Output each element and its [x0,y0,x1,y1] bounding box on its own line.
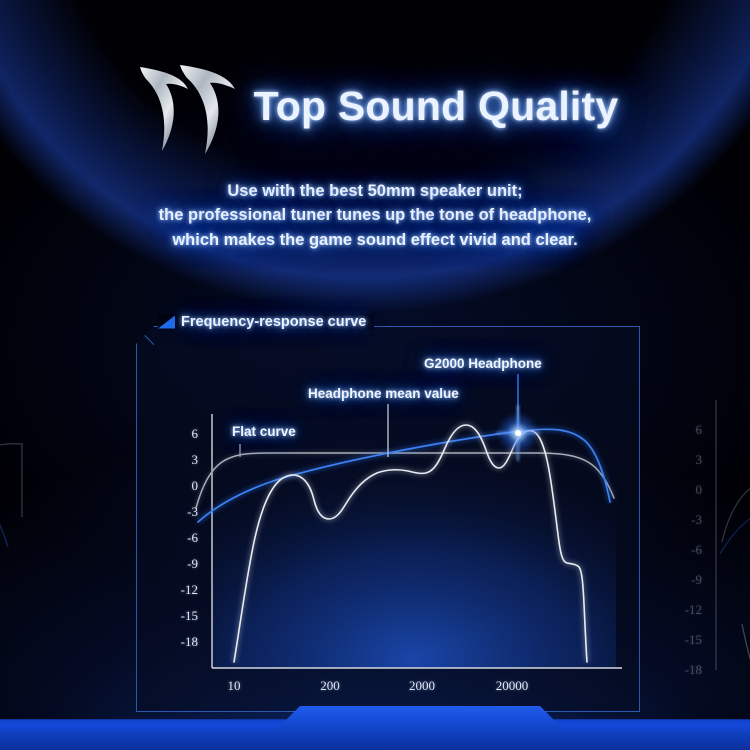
y-tick: -3 [160,504,198,520]
x-tick: 20000 [481,678,543,694]
header: Top Sound Quality Use with the best 50mm… [0,55,750,252]
ghost-left-curves [0,332,92,692]
y-tick: -15 [160,608,198,624]
subtitle-line: the professional tuner tunes up the tone… [0,203,750,227]
ghost-tick: -6 [670,542,702,558]
x-tick: 10 [214,678,254,694]
y-tick: -18 [160,634,198,650]
ghost-tick: -9 [670,572,702,588]
ghost-slide-right: 6 3 0 -3 -6 -9 -12 -15 -18 [656,392,750,692]
y-tick: 0 [160,478,198,494]
ghost-tick: 0 [674,482,702,498]
callout-headphone-mean-value: Headphone mean value [308,386,459,401]
title-row: Top Sound Quality [0,55,750,157]
frequency-response-panel: Frequency-response curve [136,326,640,712]
x-tick: 2000 [395,678,449,694]
chart-canvas: Flat curve Headphone mean value G2000 He… [136,326,640,712]
y-tick: -6 [160,530,198,546]
frequency-response-chart [136,326,640,712]
y-tick: 6 [160,426,198,442]
promo-slide: 2000 6 3 0 -3 -6 -9 -12 -15 -18 [0,0,750,750]
subtitle-line: which makes the game sound effect vivid … [0,228,750,252]
y-tick: -9 [160,556,198,572]
double-crescent-logo-icon [132,61,244,157]
ghost-tick: 3 [674,452,702,468]
ghost-tick: -18 [666,662,702,678]
callout-g2000-headphone: G2000 Headphone [424,356,542,371]
ghost-tick: -15 [666,632,702,648]
subtitle-line: Use with the best 50mm speaker unit; [0,179,750,203]
callout-flat-curve: Flat curve [232,424,296,439]
ghost-tick: -12 [666,602,702,618]
y-tick: 3 [160,452,198,468]
ghost-tick: 6 [674,422,702,438]
ghost-slide-left: 2000 [0,332,92,692]
x-tick: 200 [307,678,353,694]
page-title: Top Sound Quality [254,83,619,130]
ghost-tick: -3 [670,512,702,528]
plot-area-glow [212,418,616,668]
subtitle: Use with the best 50mm speaker unit; the… [0,179,750,252]
y-tick: -12 [160,582,198,598]
